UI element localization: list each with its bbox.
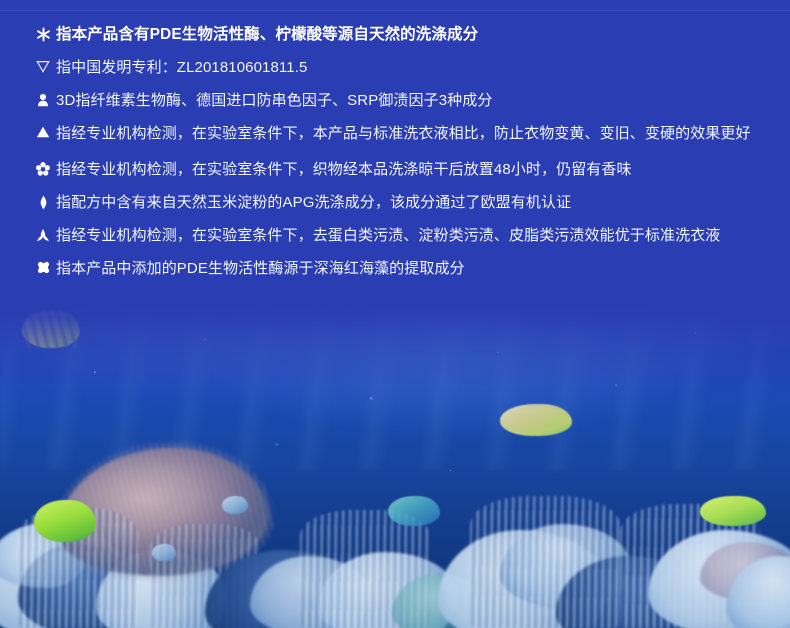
person-silhouette-icon	[30, 90, 56, 107]
footnote-item: 指经专业机构检测，在实验室条件下，去蛋白类污渍、淀粉类污渍、皮脂类污渍效能优于标…	[30, 225, 756, 247]
trefoil-icon	[30, 225, 56, 242]
footnote-item: 指配方中含有来自天然玉米淀粉的APG洗涤成分，该成分通过了欧盟有机认证	[30, 192, 756, 214]
triangle-down-outline-icon	[30, 57, 56, 73]
fish-parrotfish	[388, 496, 440, 526]
top-divider	[0, 10, 790, 11]
asterisk-icon	[30, 24, 56, 42]
footnote-text: 指中国发明专利：ZL201810601811.5	[56, 57, 756, 79]
fish-tang-left	[34, 500, 96, 542]
four-lobed-cross-icon	[30, 258, 56, 274]
footnote-text: 指经专业机构检测，在实验室条件下，织物经本品洗涤晾干后放置48小时，仍留有香味	[56, 159, 756, 181]
fish-butterflyfish	[22, 310, 80, 348]
footnote-item: 指本产品中添加的PDE生物活性酶源于深海红海藻的提取成分	[30, 258, 756, 280]
product-detail-footnote-page: 指本产品含有PDE生物活性酶、柠檬酸等源自天然的洗涤成分 指中国发明专利：ZL2…	[0, 0, 790, 628]
fish-centre-yellow	[500, 404, 572, 436]
fish-small-b	[152, 544, 176, 561]
footnote-item: 指经专业机构检测，在实验室条件下，织物经本品洗涤晾干后放置48小时，仍留有香味	[30, 159, 756, 181]
footnote-text: 指经专业机构检测，在实验室条件下，本产品与标准洗衣液相比，防止衣物变黄、变旧、变…	[56, 123, 756, 145]
triangle-up-filled-icon	[30, 123, 56, 138]
flower-icon	[30, 159, 56, 176]
underwater-reef-photo	[0, 300, 790, 628]
footnote-list: 指本产品含有PDE生物活性酶、柠檬酸等源自天然的洗涤成分 指中国发明专利：ZL2…	[0, 24, 790, 289]
footnote-text: 指经专业机构检测，在实验室条件下，去蛋白类污渍、淀粉类污渍、皮脂类污渍效能优于标…	[56, 225, 756, 247]
footnote-item: 指本产品含有PDE生物活性酶、柠檬酸等源自天然的洗涤成分	[30, 24, 756, 46]
fish-tang-right	[700, 496, 766, 526]
footnote-text: 指本产品中添加的PDE生物活性酶源于深海红海藻的提取成分	[56, 258, 756, 280]
footnote-item: 3D指纤维素生物酶、德国进口防串色因子、SRP御渍因子3种成分	[30, 90, 756, 112]
footnote-text: 3D指纤维素生物酶、德国进口防串色因子、SRP御渍因子3种成分	[56, 90, 756, 112]
fish-small-a	[222, 496, 248, 514]
footnote-item: 指经专业机构检测，在实验室条件下，本产品与标准洗衣液相比，防止衣物变黄、变旧、变…	[30, 123, 756, 145]
footnote-text: 指本产品含有PDE生物活性酶、柠檬酸等源自天然的洗涤成分	[56, 24, 756, 46]
footnote-item: 指中国发明专利：ZL201810601811.5	[30, 57, 756, 79]
diamond-vertical-icon	[30, 192, 56, 210]
footnote-text: 指配方中含有来自天然玉米淀粉的APG洗涤成分，该成分通过了欧盟有机认证	[56, 192, 756, 214]
